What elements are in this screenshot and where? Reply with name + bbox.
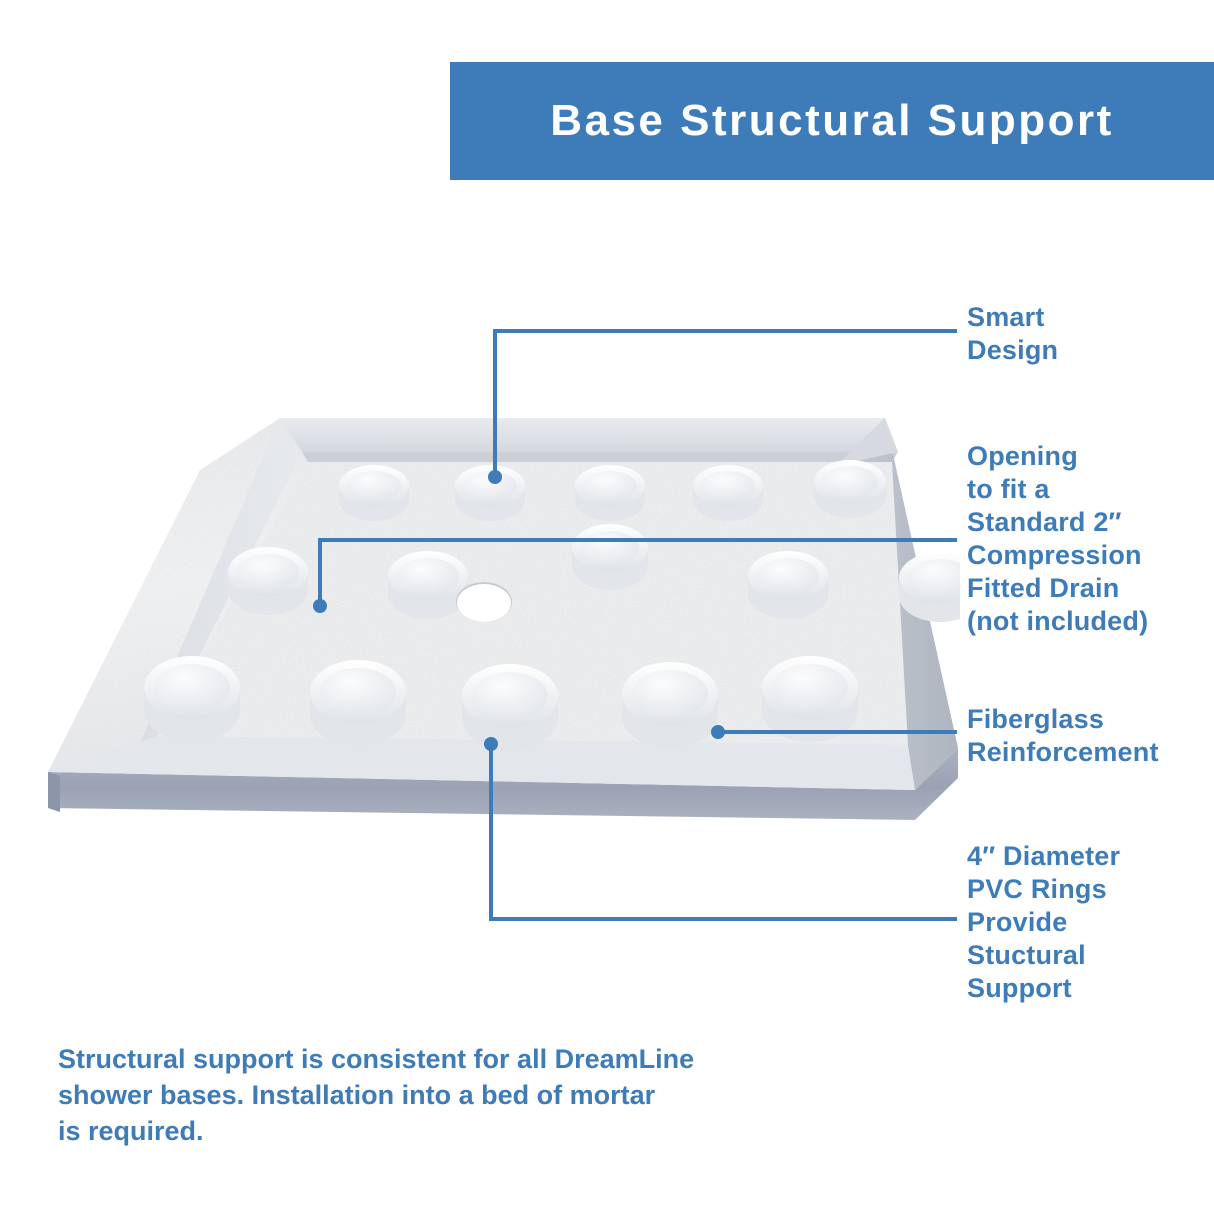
pvc-ring [388,551,468,619]
pvc-ring [339,465,409,521]
callout-line: Compression [967,539,1148,572]
callout-line: to fit a [967,473,1148,506]
callout-line: Smart [967,301,1058,334]
footnote-line: is required. [58,1114,818,1150]
pvc-ring [762,656,858,742]
callout-line: (not included) [967,605,1148,638]
pvc-ring [622,662,718,748]
callout-smart-design: Smart Design [967,301,1058,367]
callout-drain-opening: Opening to fit a Standard 2″ Compression… [967,440,1148,638]
pvc-ring [899,552,960,622]
pvc-ring [462,664,558,750]
pvc-ring [228,547,308,615]
footnote-line: Structural support is consistent for all… [58,1042,818,1078]
callout-fiberglass: Fiberglass Reinforcement [967,703,1159,769]
pvc-ring [575,465,645,521]
header-banner: Base Structural Support [450,62,1214,180]
callout-line: Reinforcement [967,736,1159,769]
pvc-ring [814,460,886,518]
callout-line: Standard 2″ [967,506,1148,539]
callout-pvc-rings: 4″ Diameter PVC Rings Provide Stuctural … [967,840,1120,1005]
infographic-page: Base Structural Support [0,0,1214,1214]
callout-line: Provide [967,906,1120,939]
callout-line: Opening [967,440,1148,473]
callout-line: Support [967,972,1120,1005]
pvc-ring [455,465,525,521]
pvc-ring [748,551,828,619]
pvc-ring [693,465,763,521]
footnote: Structural support is consistent for all… [58,1042,818,1150]
page-title: Base Structural Support [550,96,1114,146]
callout-line: PVC Rings [967,873,1120,906]
callout-line: 4″ Diameter [967,840,1120,873]
callout-line: Fiberglass [967,703,1159,736]
pan-back-rim [280,418,898,462]
callout-line: Fitted Drain [967,572,1148,605]
drain-opening [456,582,512,622]
pvc-ring [310,660,406,746]
pvc-ring [144,656,240,742]
callout-line: Design [967,334,1058,367]
product-illustration [40,400,960,830]
callout-line: Stuctural [967,939,1120,972]
pvc-ring [572,524,648,590]
footnote-line: shower bases. Installation into a bed of… [58,1078,818,1114]
